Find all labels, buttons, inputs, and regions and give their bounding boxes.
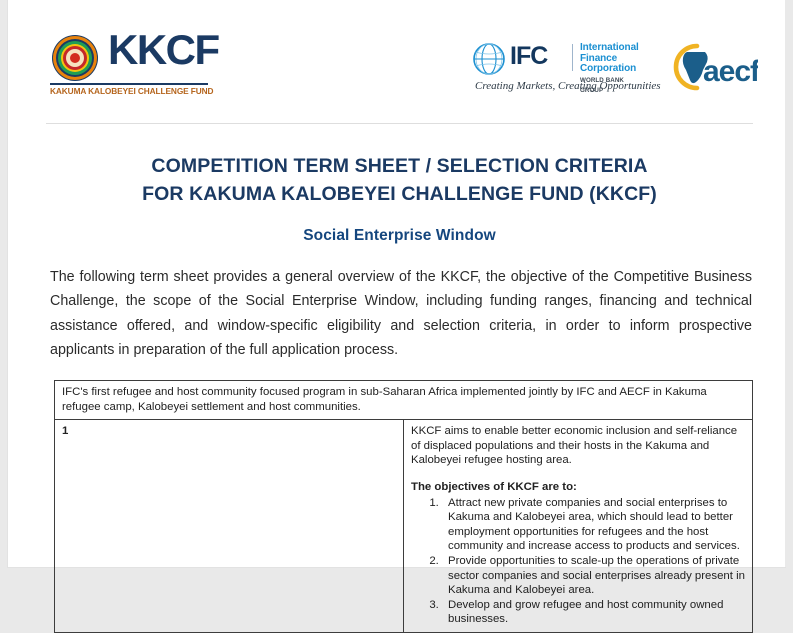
kkcf-logo: KKCF KAKUMA KALOBEYEI CHALLENGE FUND	[46, 33, 246, 95]
page-subtitle: Social Enterprise Window	[46, 227, 753, 245]
table-cell-objectives: KKCF aims to enable better economic incl…	[404, 420, 753, 633]
objectives-subheading: The objectives of KKCF are to:	[411, 480, 746, 495]
page-title-line-2: FOR KAKUMA KALOBEYEI CHALLENGE FUND (KKC…	[46, 180, 753, 208]
aecf-logo: aecf	[663, 42, 758, 92]
header-divider-rule	[46, 123, 753, 124]
svg-text:aecf: aecf	[703, 55, 758, 88]
page-right-margin	[785, 0, 793, 567]
kkcf-divider-rule	[50, 83, 208, 85]
aecf-africa-arc-icon: aecf	[663, 42, 758, 92]
ifc-logo: IFC International Finance Corporation WO…	[473, 42, 648, 97]
ifc-name-line-1: International	[580, 43, 648, 54]
kkcf-circular-emblem-icon	[52, 35, 98, 81]
list-item: Attract new private companies and social…	[442, 496, 746, 554]
intro-paragraph: The following term sheet provides a gene…	[50, 265, 752, 363]
page-title: COMPETITION TERM SHEET / SELECTION CRITE…	[46, 152, 753, 208]
list-item: Provide opportunities to scale-up the op…	[442, 554, 746, 598]
objectives-list: Attract new private companies and social…	[411, 496, 746, 627]
ifc-name-line-2: Finance Corporation	[580, 54, 648, 75]
ifc-globe-icon	[473, 43, 505, 75]
kkcf-tagline: KAKUMA KALOBEYEI CHALLENGE FUND	[50, 86, 220, 96]
table-row: IFC's first refugee and host community f…	[55, 381, 753, 420]
ifc-tagline: Creating Markets, Creating Opportunities	[475, 80, 661, 92]
table-row: 1 KKCF aims to enable better economic in…	[55, 420, 753, 633]
term-sheet-table: IFC's first refugee and host community f…	[54, 380, 753, 633]
logo-header-bar: KKCF KAKUMA KALOBEYEI CHALLENGE FUND IFC…	[8, 0, 785, 116]
table-cell-overview: IFC's first refugee and host community f…	[55, 381, 753, 420]
objectives-lead-text: KKCF aims to enable better economic incl…	[411, 424, 746, 468]
ifc-divider	[572, 44, 573, 71]
document-page: KKCF KAKUMA KALOBEYEI CHALLENGE FUND IFC…	[8, 0, 785, 567]
page-title-line-1: COMPETITION TERM SHEET / SELECTION CRITE…	[46, 152, 753, 180]
table-row-number: 1	[55, 420, 404, 633]
list-item: Develop and grow refugee and host commun…	[442, 598, 746, 627]
kkcf-wordmark: KKCF	[108, 29, 219, 71]
ifc-wordmark: IFC	[510, 44, 547, 69]
